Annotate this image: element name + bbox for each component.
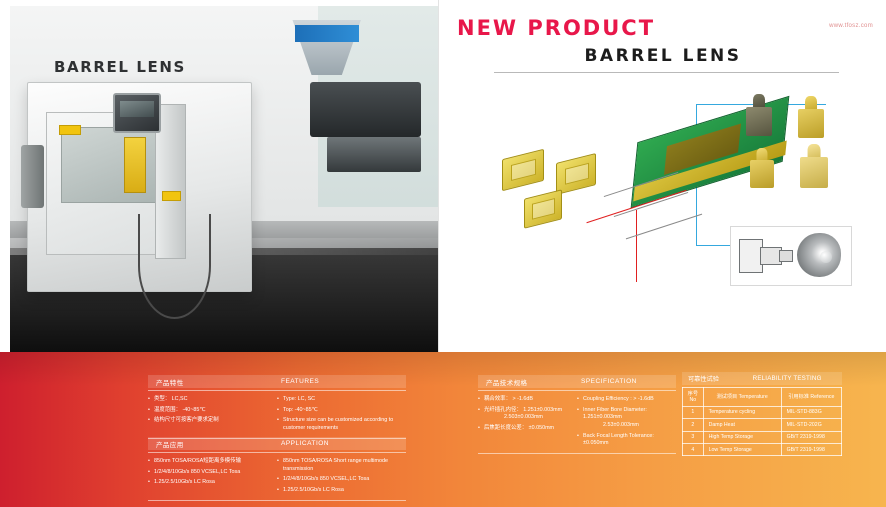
machine-handle	[21, 145, 43, 207]
photo-caption: BARREL LENS	[54, 58, 186, 76]
machine-brand-label	[295, 25, 359, 42]
machine-yellow-guard	[124, 137, 146, 193]
features-header-en: FEATURES	[281, 378, 406, 385]
machine-barrel-lower	[327, 137, 421, 172]
list-item: •1/2/4/8/10Gb/s 850 VCSEL,LC Tosa	[277, 476, 406, 484]
website-url[interactable]: www.tfosz.com	[829, 23, 873, 29]
table-row: 3 High Temp Storage GB/T 2319-1998	[683, 431, 842, 443]
list-item: •850nm TOSA/ROSA短距离多模传输	[148, 458, 277, 466]
list-item: •1.25/2.5/10Gb/s LC Rosa	[277, 487, 406, 495]
list-item: •Coupling Efficiency : > -1.6dB	[577, 396, 676, 404]
specification-header-en: SPECIFICATION	[581, 378, 676, 385]
barrel-lens-part-3	[524, 189, 562, 228]
list-item: •耦合效率： > -1.6dB	[478, 396, 577, 404]
connector-photo-4	[800, 144, 828, 188]
list-item: •光纤插孔内径： 1.251±0.003mm2.503±0.003mm	[478, 407, 577, 422]
reliability-block: 可靠性试验 RELIABILITY TESTING 序号 No 测试项目 Tem…	[682, 372, 842, 456]
product-illustration	[484, 82, 854, 302]
barrel-lens-part-2	[556, 153, 596, 195]
machine-control-panel	[113, 93, 162, 132]
machine-label-a	[59, 125, 81, 135]
lens-render-icon	[797, 233, 841, 277]
dimension-annotations	[602, 174, 722, 244]
barrel-lens-part-1	[502, 149, 544, 191]
new-product-heading: NEW PRODUCT	[457, 16, 655, 40]
application-header: 产品应用 APPLICATION	[148, 437, 406, 450]
application-header-cn: 产品应用	[148, 439, 281, 449]
dimension-line-2	[614, 192, 688, 217]
features-en-list: •Type: LC, SC •Top: -40~85℃ •Structure s…	[277, 396, 406, 436]
list-item: •1/2/4/8/10Gb/s 850 VCSEL,LC Tosa	[148, 469, 277, 477]
machine-window	[61, 127, 165, 202]
list-item: •Structure size can be customized accord…	[277, 417, 406, 432]
col-header-reference: 引用标准 Reference	[781, 388, 841, 407]
machine-cable	[138, 214, 210, 320]
specification-cn-list: •耦合效率： > -1.6dB •光纤插孔内径： 1.251±0.003mm2.…	[478, 396, 577, 451]
reliability-header: 可靠性试验 RELIABILITY TESTING	[682, 372, 842, 385]
spec-cn-continuation: 2.503±0.003mm	[484, 414, 577, 422]
list-item: •Type: LC, SC	[277, 396, 406, 404]
page-title: BARREL LENS	[439, 46, 886, 66]
features-block: 产品特性 FEATURES •类型： LC,SC •温度范围： -40~85℃ …	[148, 375, 406, 439]
features-header-cn: 产品特性	[148, 377, 281, 387]
spec-en-continuation: 2.53±0.003mm	[583, 422, 676, 430]
machine-barrel	[310, 82, 421, 137]
reliability-header-cn: 可靠性试验	[682, 374, 753, 383]
list-item: •结构尺寸可按客户要求定制	[148, 417, 277, 425]
reliability-table: 序号 No 测试项目 Temperature 引用标准 Reference 1 …	[682, 387, 842, 456]
connector-photo-1	[746, 94, 772, 136]
application-cn-list: •850nm TOSA/ROSA短距离多模传输 •1/2/4/8/10Gb/s …	[148, 458, 277, 498]
machine-label-b	[162, 191, 182, 201]
table-row: 4 Low Temp Storage GB/T 2319-1998	[683, 443, 842, 455]
application-block: 产品应用 APPLICATION •850nm TOSA/ROSA短距离多模传输…	[148, 437, 406, 501]
connector-photo-3	[750, 148, 774, 188]
list-item: •850nm TOSA/ROSA Short range multimode t…	[277, 458, 406, 473]
list-item: •类型： LC,SC	[148, 396, 277, 404]
dimension-line-1	[604, 172, 678, 197]
application-en-list: •850nm TOSA/ROSA Short range multimode t…	[277, 458, 406, 498]
application-divider-bottom	[148, 500, 406, 501]
list-item: •Back Focal Length Tolerance: ±0.050mm	[577, 433, 676, 448]
icon-strip	[730, 226, 852, 286]
list-item: •后焦距长度公差： ±0.050mm	[478, 425, 577, 433]
title-divider	[494, 72, 839, 73]
specification-header: 产品技术规格 SPECIFICATION	[478, 375, 676, 388]
list-item: •Inner Fiber Bore Diameter: 1.251±0.003m…	[577, 407, 676, 430]
reliability-header-en: RELIABILITY TESTING	[753, 375, 842, 382]
col-header-no: 序号 No	[683, 388, 704, 407]
mold-cross-section-icon	[739, 235, 791, 275]
table-header-row: 序号 No 测试项目 Temperature 引用标准 Reference	[683, 388, 842, 407]
list-item: •温度范围： -40~85℃	[148, 407, 277, 415]
connector-photo-2	[798, 96, 824, 138]
specification-divider-bottom	[478, 453, 676, 454]
application-header-en: APPLICATION	[281, 440, 406, 447]
list-item: •Top: -40~85℃	[277, 407, 406, 415]
specification-block: 产品技术规格 SPECIFICATION •耦合效率： > -1.6dB •光纤…	[478, 375, 676, 454]
list-item: •1.25/2.5/10Gb/s LC Rosa	[148, 479, 277, 487]
product-photo: BARREL LENS	[10, 6, 438, 352]
table-row: 1 Temperature cycling MIL-STD-883G	[683, 406, 842, 418]
features-cn-list: •类型： LC,SC •温度范围： -40~85℃ •结构尺寸可按客户要求定制	[148, 396, 277, 436]
right-panel: NEW PRODUCT www.tfosz.com BARREL LENS	[438, 0, 886, 352]
features-header: 产品特性 FEATURES	[148, 375, 406, 388]
specification-en-list: •Coupling Efficiency : > -1.6dB •Inner F…	[577, 396, 676, 451]
table-row: 2 Damp Heat MIL-STD-202G	[683, 419, 842, 431]
col-header-test: 测试项目 Temperature	[703, 388, 781, 407]
brochure-page: BARREL LENS NEW PRODUCT www.tfosz.com BA…	[0, 0, 886, 507]
specification-header-cn: 产品技术规格	[478, 377, 581, 387]
dimension-line-3	[626, 214, 702, 240]
